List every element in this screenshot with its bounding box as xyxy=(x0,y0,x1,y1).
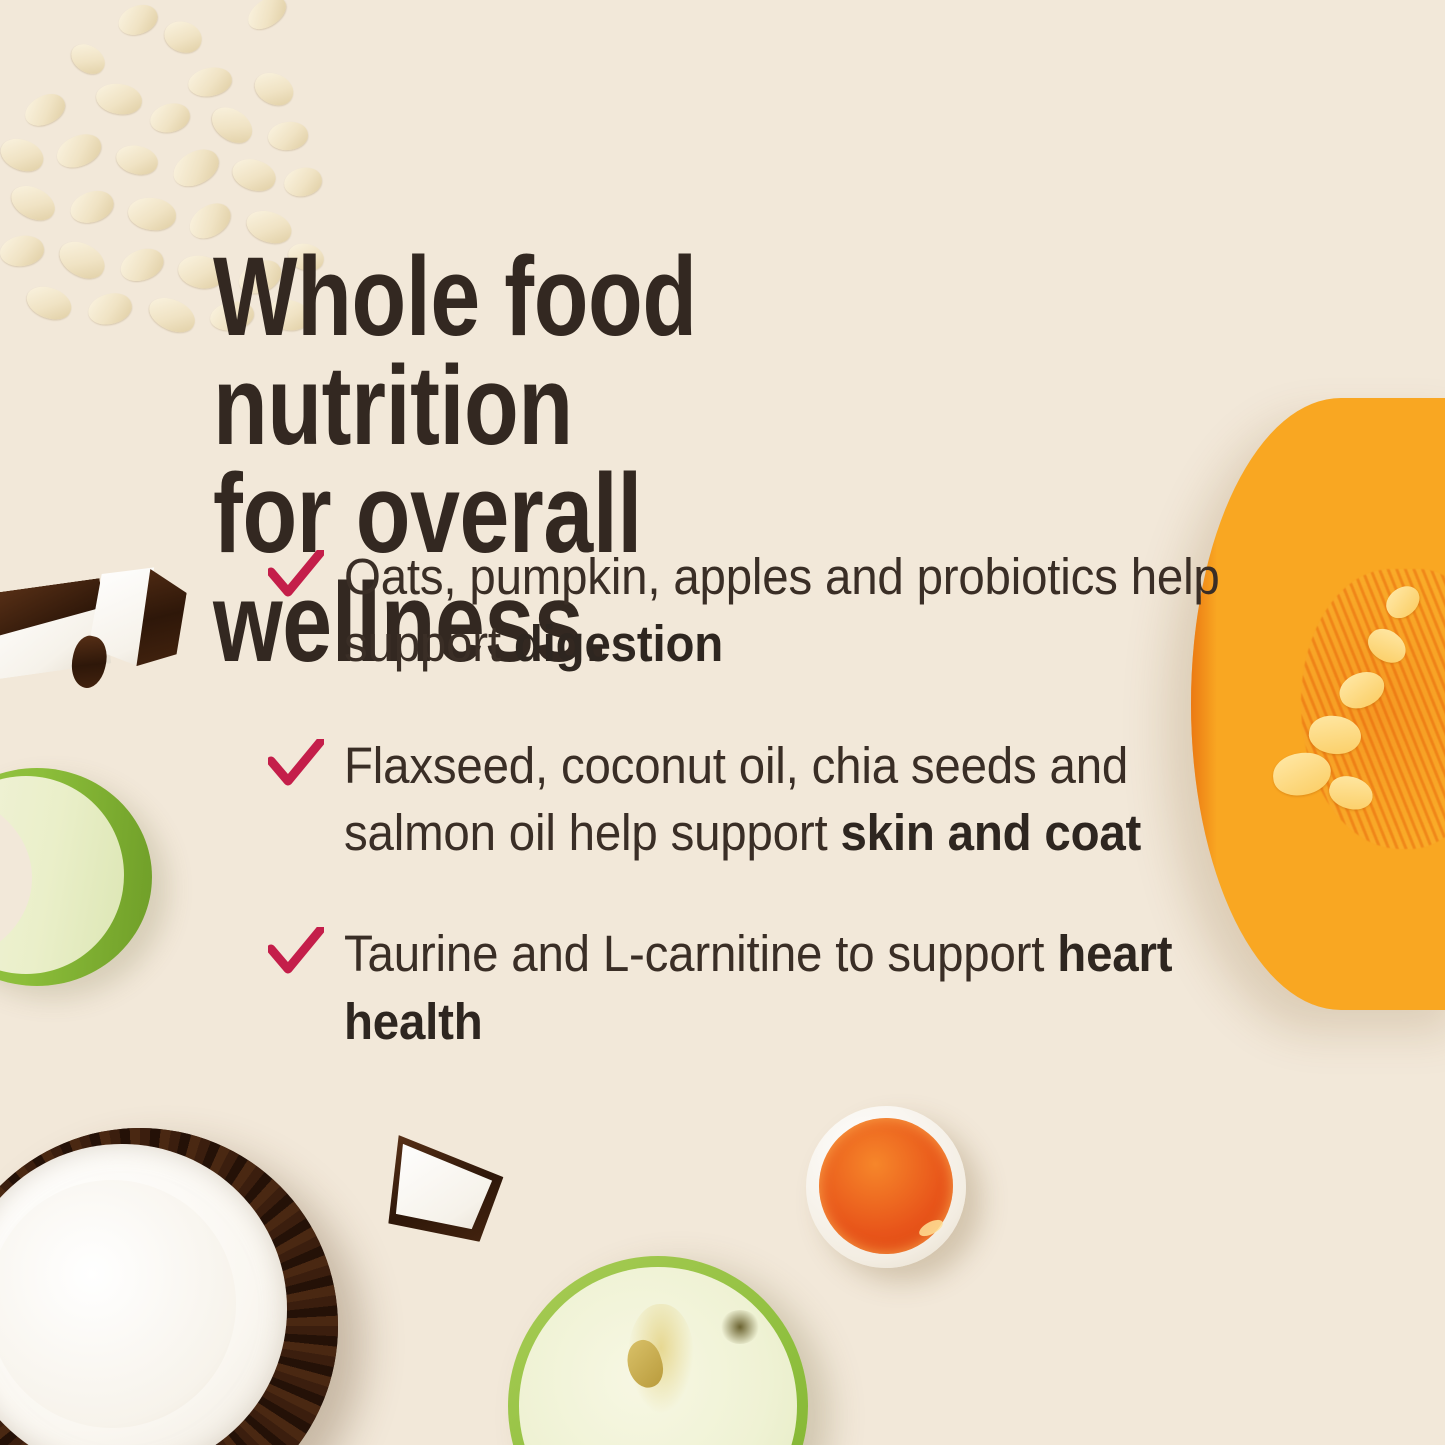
oat-flake xyxy=(160,17,205,57)
pumpkin-seed-cavity xyxy=(1301,569,1445,849)
oat-flake xyxy=(52,128,106,174)
oat-flake xyxy=(6,179,60,226)
benefit-text: Flaxseed, coconut oil, chia seeds and sa… xyxy=(344,732,1224,867)
benefit-emphasis: skin and coat xyxy=(840,804,1141,861)
oat-flake xyxy=(186,64,235,101)
benefit-lead: Taurine and L-carnitine to support xyxy=(344,925,1057,982)
benefit-emphasis: digestion xyxy=(514,615,723,672)
oat-flake xyxy=(66,38,110,79)
oat-flake xyxy=(205,100,258,149)
benefit-text: Taurine and L-carnitine to support heart… xyxy=(344,920,1224,1055)
oat-flake xyxy=(114,0,162,40)
oat-flake xyxy=(85,289,136,330)
green-apple-slice-photo xyxy=(0,768,152,986)
list-item: Oats, pumpkin, apples and probiotics hel… xyxy=(268,543,1228,678)
oat-flake xyxy=(242,0,291,36)
oat-flake xyxy=(250,67,299,111)
oat-flake xyxy=(116,243,168,287)
salmon-oil-bowl-photo xyxy=(806,1106,966,1268)
coconut-chunk-photo xyxy=(382,1128,508,1248)
oat-flake xyxy=(53,235,110,286)
oat-flake xyxy=(167,142,225,194)
oat-flake xyxy=(66,185,118,228)
coconut-half-photo xyxy=(0,1128,338,1445)
benefits-list: Oats, pumpkin, apples and probiotics hel… xyxy=(268,543,1228,1109)
check-icon xyxy=(268,739,324,791)
oat-flake xyxy=(266,119,310,152)
promo-image-canvas: Whole food nutrition for overall wellnes… xyxy=(0,0,1445,1445)
oat-flake xyxy=(126,196,177,233)
oat-flake xyxy=(144,292,200,339)
pumpkin-half-photo xyxy=(1191,398,1445,1010)
list-item: Flaxseed, coconut oil, chia seeds and sa… xyxy=(268,732,1228,867)
oat-flake xyxy=(94,81,144,117)
benefit-text: Oats, pumpkin, apples and probiotics hel… xyxy=(344,543,1224,678)
oat-flake xyxy=(22,281,75,325)
oat-flake xyxy=(281,164,325,200)
oat-flake xyxy=(229,155,280,196)
oat-flake xyxy=(0,232,46,269)
oat-flake xyxy=(114,142,161,178)
oat-flake xyxy=(147,99,193,137)
check-icon xyxy=(268,550,324,602)
oat-flake xyxy=(0,133,48,176)
apple-stem-well xyxy=(720,1310,760,1344)
green-apple-half-photo xyxy=(508,1256,808,1445)
list-item: Taurine and L-carnitine to support heart… xyxy=(268,920,1228,1055)
check-icon xyxy=(268,927,324,979)
oat-flake xyxy=(20,88,70,132)
benefit-lead: Oats, pumpkin, apples and probiotics hel… xyxy=(344,548,1220,672)
